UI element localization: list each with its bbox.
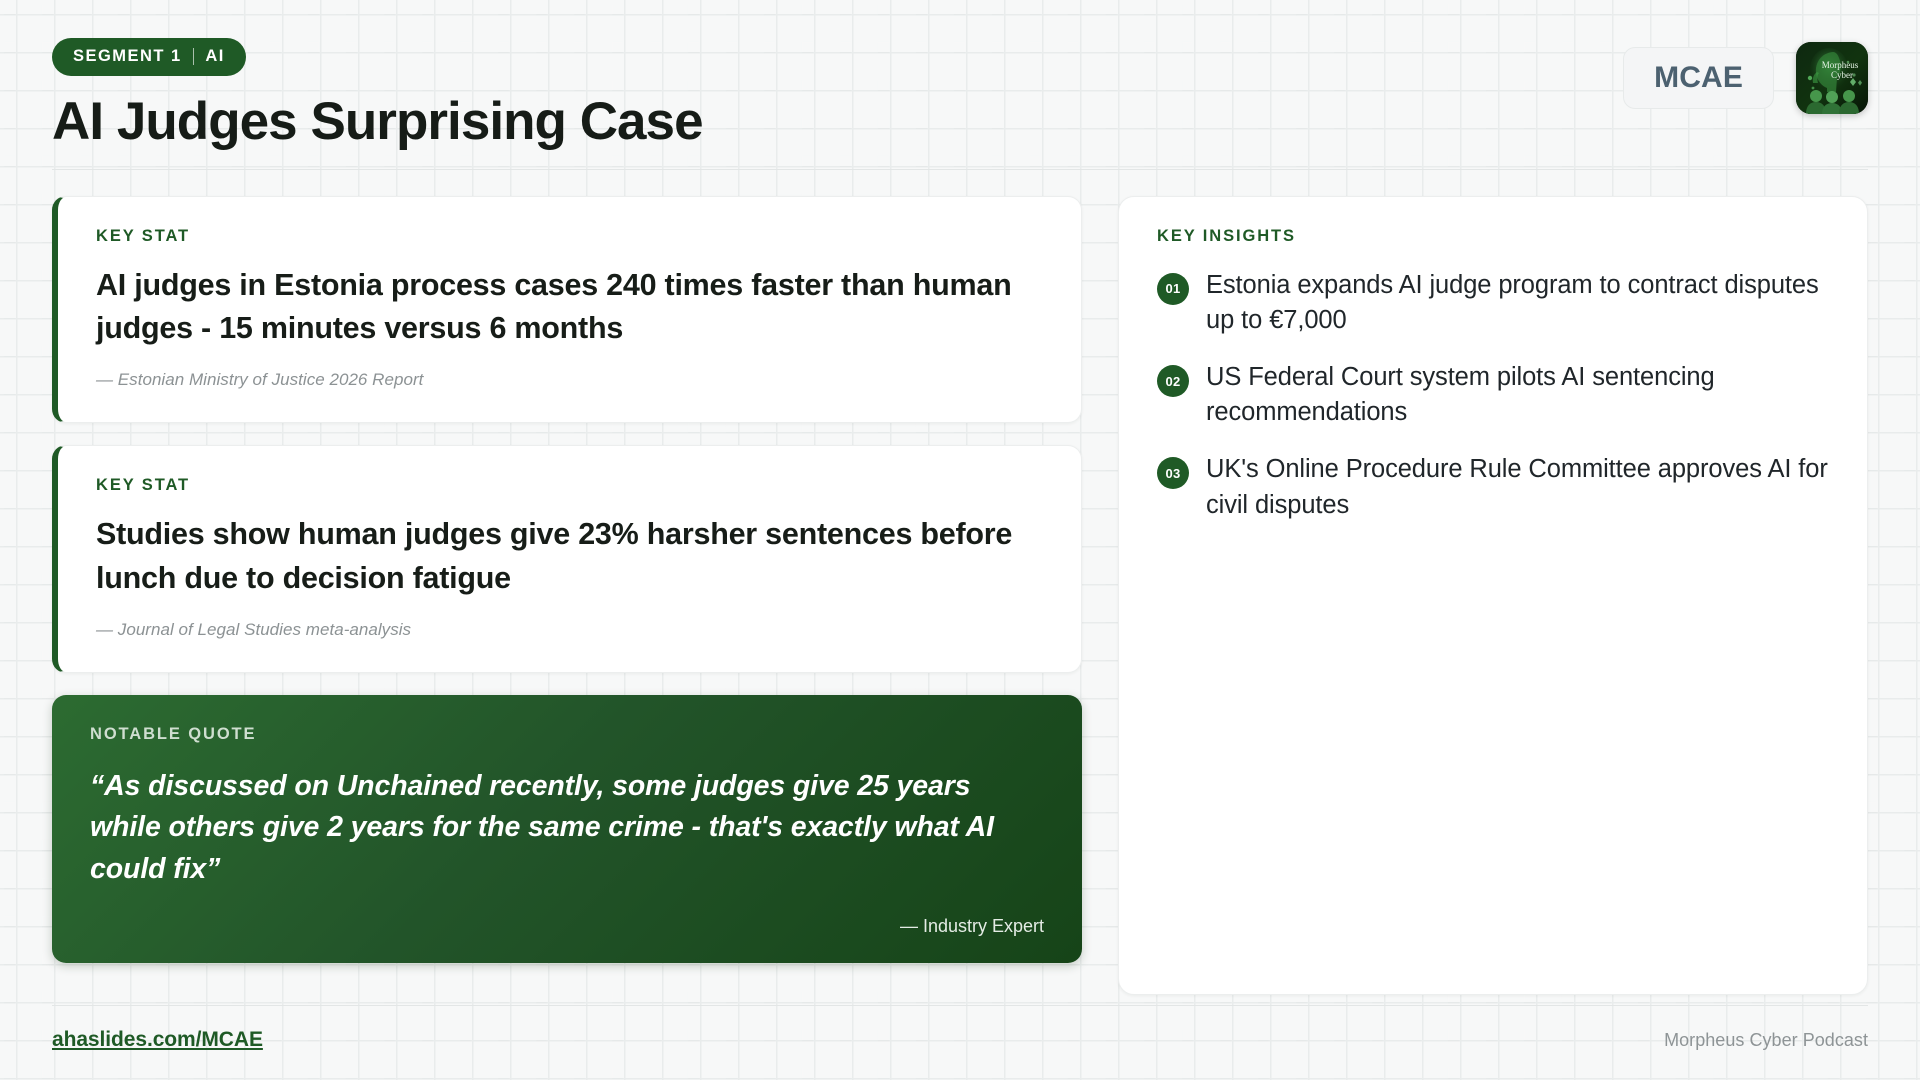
stat-card: KEY STAT Studies show human judges give … xyxy=(52,445,1082,673)
stat-card-eyebrow: KEY STAT xyxy=(96,227,1043,246)
insight-text: UK's Online Procedure Rule Committee app… xyxy=(1206,452,1829,522)
key-insights-panel: KEY INSIGHTS 01 Estonia expands AI judge… xyxy=(1118,196,1868,995)
list-item: 03 UK's Online Procedure Rule Committee … xyxy=(1157,452,1829,522)
footer-brand: Morpheus Cyber Podcast xyxy=(1664,1030,1868,1051)
footer-link[interactable]: ahaslides.com/MCAE xyxy=(52,1028,263,1052)
stat-card: KEY STAT AI judges in Estonia process ca… xyxy=(52,196,1082,424)
svg-text:Morpheus: Morpheus xyxy=(1822,60,1859,70)
stat-card-headline: AI judges in Estonia process cases 240 t… xyxy=(96,264,1043,351)
slide-body: KEY STAT AI judges in Estonia process ca… xyxy=(52,170,1868,1005)
svg-text:Cyber: Cyber xyxy=(1831,70,1853,80)
slide-header: SEGMENT 1 AI AI Judges Surprising Case M… xyxy=(52,0,1868,170)
quote-card-source: — Industry Expert xyxy=(90,916,1044,937)
left-column: KEY STAT AI judges in Estonia process ca… xyxy=(52,196,1082,995)
podcast-logo: Morpheus Cyber xyxy=(1796,42,1868,114)
page-title: AI Judges Surprising Case xyxy=(52,94,703,151)
segment-badge-segment-label: SEGMENT 1 xyxy=(73,47,182,66)
key-insights-eyebrow: KEY INSIGHTS xyxy=(1157,227,1829,246)
list-item: 01 Estonia expands AI judge program to c… xyxy=(1157,268,1829,338)
stat-card-attribution: — Estonian Ministry of Justice 2026 Repo… xyxy=(96,370,1043,390)
segment-badge-divider xyxy=(193,48,195,65)
stat-card-headline: Studies show human judges give 23% harsh… xyxy=(96,513,1043,600)
list-item: 02 US Federal Court system pilots AI sen… xyxy=(1157,360,1829,430)
mcae-badge: MCAE xyxy=(1623,47,1774,109)
insight-text: Estonia expands AI judge program to cont… xyxy=(1206,268,1829,338)
podcast-logo-artwork: Morpheus Cyber xyxy=(1796,42,1868,114)
insight-number-badge: 01 xyxy=(1157,273,1189,305)
right-column: KEY INSIGHTS 01 Estonia expands AI judge… xyxy=(1118,196,1868,995)
slide-root: SEGMENT 1 AI AI Judges Surprising Case M… xyxy=(0,0,1920,1080)
quote-card-text: “As discussed on Unchained recently, som… xyxy=(90,766,1044,890)
insight-number-badge: 03 xyxy=(1157,457,1189,489)
header-right-group: MCAE xyxy=(1623,36,1868,114)
segment-badge-topic-label: AI xyxy=(205,47,224,66)
quote-card-eyebrow: NOTABLE QUOTE xyxy=(90,725,1044,744)
segment-badge: SEGMENT 1 AI xyxy=(52,38,246,76)
slide-footer: ahaslides.com/MCAE Morpheus Cyber Podcas… xyxy=(52,1005,1868,1080)
stat-card-eyebrow: KEY STAT xyxy=(96,476,1043,495)
header-left-group: SEGMENT 1 AI AI Judges Surprising Case xyxy=(52,36,703,151)
stat-card-attribution: — Journal of Legal Studies meta-analysis xyxy=(96,620,1043,640)
key-insights-list: 01 Estonia expands AI judge program to c… xyxy=(1157,268,1829,523)
notable-quote-card: NOTABLE QUOTE “As discussed on Unchained… xyxy=(52,695,1082,963)
insight-number-badge: 02 xyxy=(1157,365,1189,397)
insight-text: US Federal Court system pilots AI senten… xyxy=(1206,360,1829,430)
